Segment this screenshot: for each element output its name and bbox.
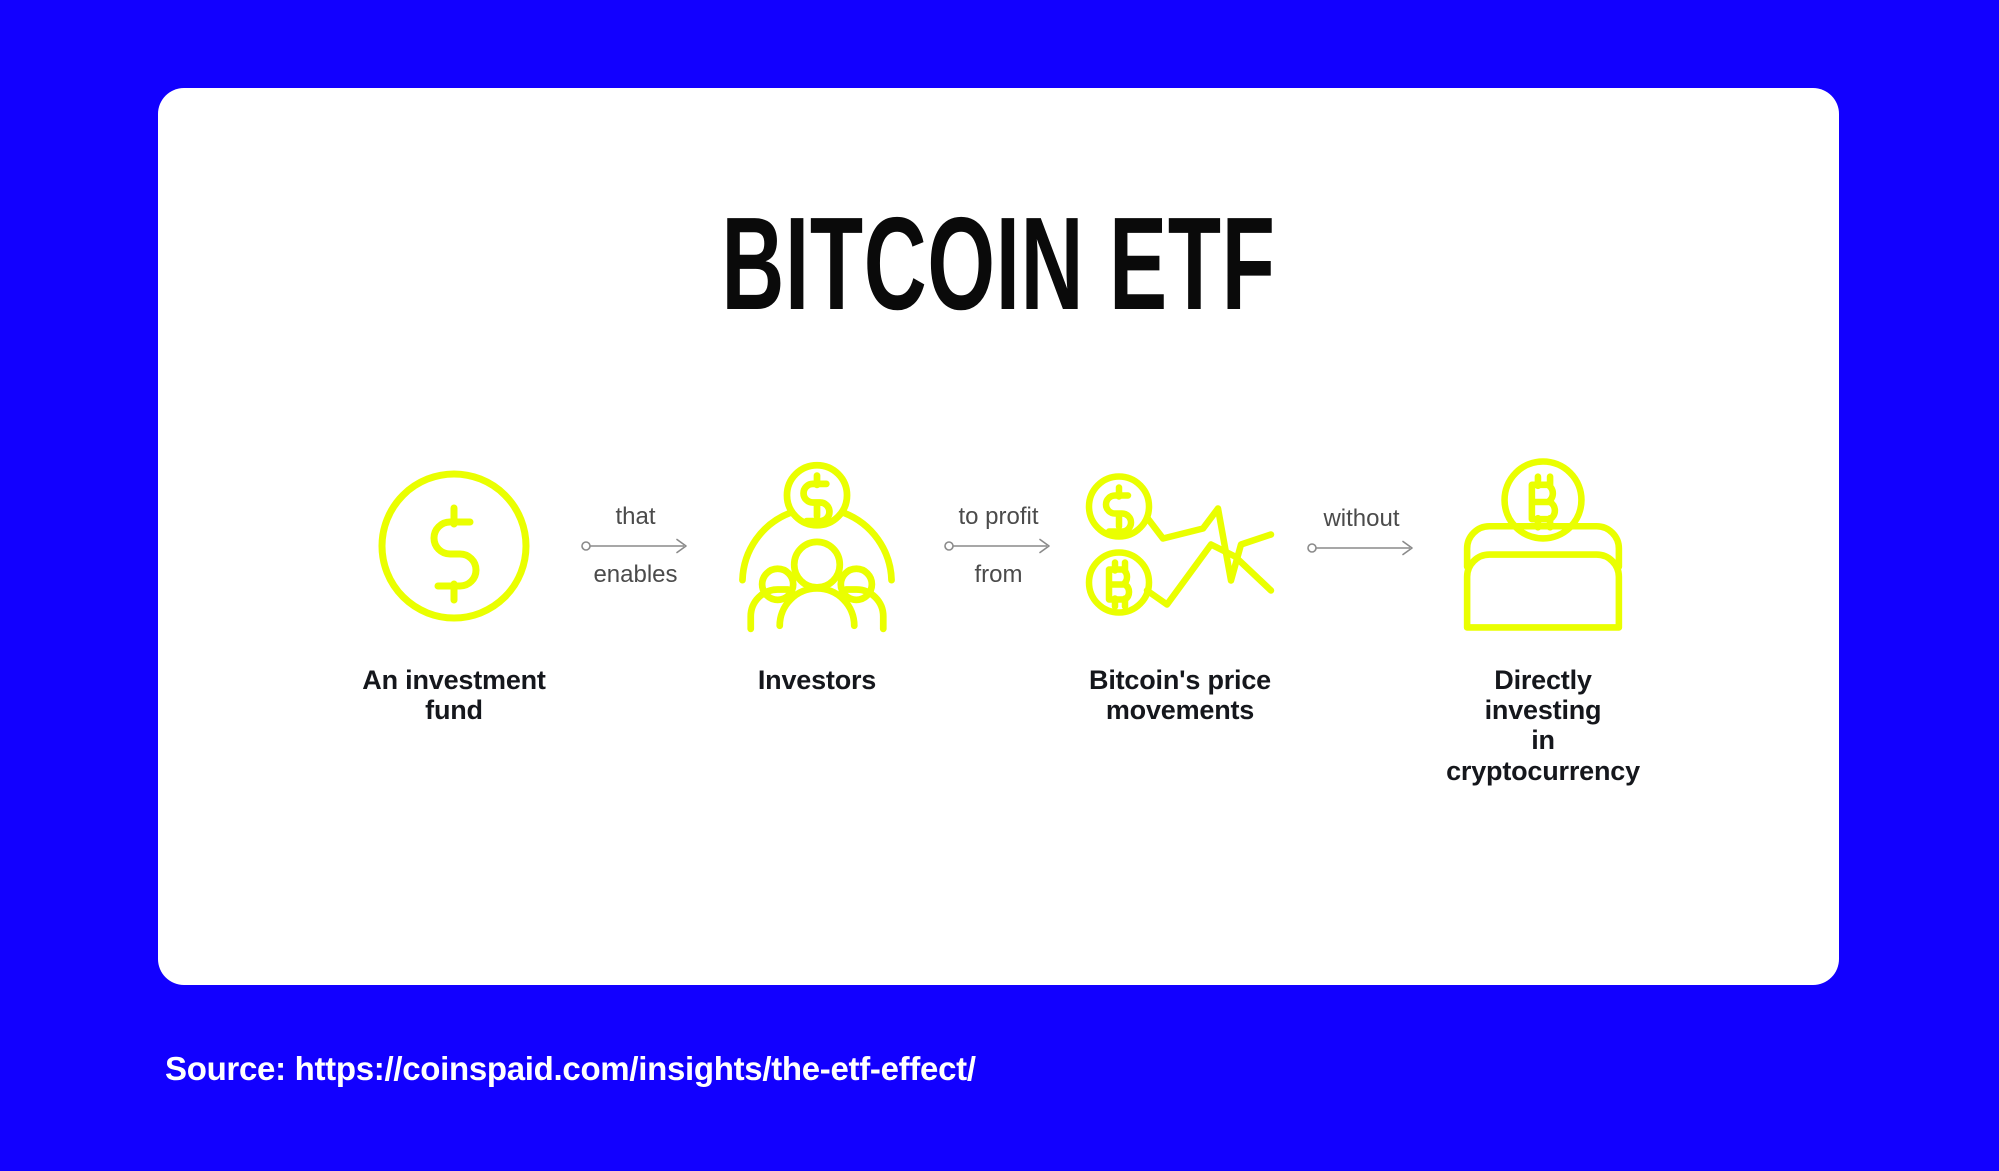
dollar-coin-icon: [359, 458, 549, 633]
arrow-right-icon: [581, 538, 691, 554]
flow-node-label: Directly investing in cryptocurrency: [1436, 665, 1651, 786]
flow-node-direct-investing: Directly investing in cryptocurrency: [1436, 458, 1651, 786]
source-attribution[interactable]: Source: https://coinspaid.com/insights/t…: [165, 1050, 976, 1088]
flow-diagram: An investment fund that enables: [158, 458, 1839, 758]
flow-connector-1: that enables: [562, 458, 710, 633]
flow-node-label: Bitcoin's price movements: [1089, 665, 1271, 725]
flow-node-label: An investment fund: [362, 665, 545, 725]
infographic-card: BITCOIN ETF An investment fund that: [158, 88, 1839, 985]
page-title: BITCOIN ETF: [444, 198, 1553, 330]
flow-connector-3: without: [1288, 458, 1436, 633]
price-volatility-chart-icon: [1085, 458, 1275, 633]
connector-label-below: enables: [593, 558, 677, 592]
connector-label-below: from: [975, 558, 1023, 592]
flow-node-price-movements: Bitcoin's price movements: [1073, 458, 1288, 725]
infographic-root: BITCOIN ETF An investment fund that: [0, 0, 1999, 1171]
flow-node-label: Investors: [758, 665, 876, 695]
arrow-right-icon: [1307, 540, 1417, 556]
flow-connector-2: to profit from: [925, 458, 1073, 633]
investors-group-icon: [722, 458, 912, 633]
connector-label-above: without: [1323, 502, 1399, 536]
flow-node-investors: Investors: [710, 458, 925, 695]
arrow-right-icon: [944, 538, 1054, 554]
bitcoin-wallet-icon: [1448, 458, 1638, 633]
flow-node-investment-fund: An investment fund: [347, 458, 562, 725]
connector-label-above: to profit: [958, 500, 1038, 534]
connector-label-above: that: [615, 500, 655, 534]
